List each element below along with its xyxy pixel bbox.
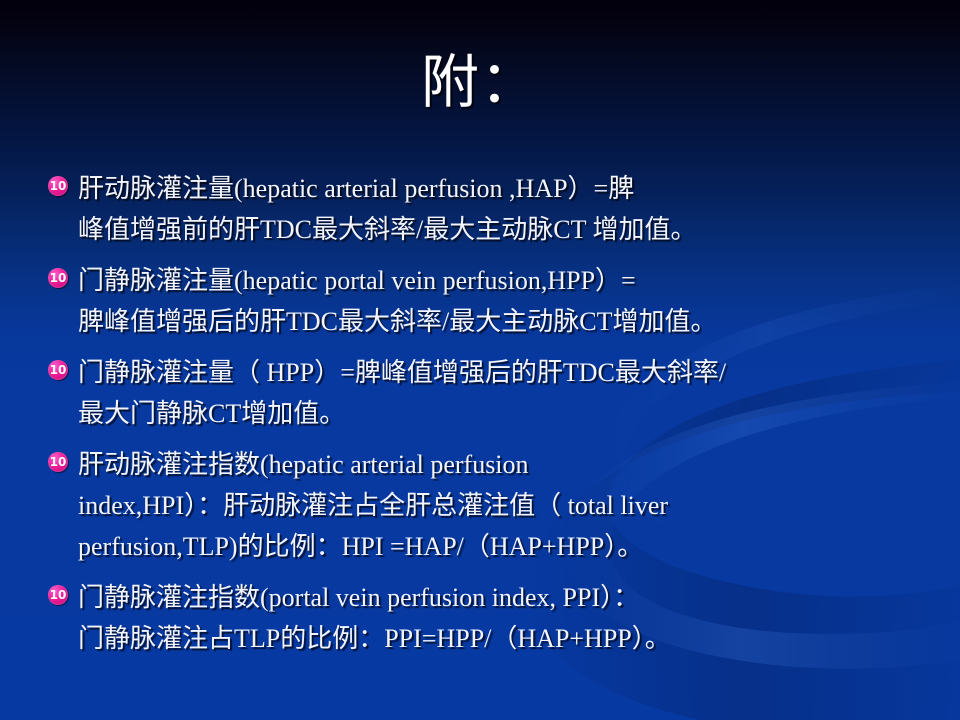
list-item-text: 肝动脉灌注量(hepatic arterial perfusion ,HAP）=… [78, 168, 920, 250]
circled-ten-bullet-icon: 10 [48, 585, 68, 605]
circled-ten-bullet-icon: 10 [48, 452, 68, 472]
slide-body: 10 肝动脉灌注量(hepatic arterial perfusion ,HA… [48, 168, 920, 669]
list-item: 10 门静脉灌注指数(portal vein perfusion index, … [48, 577, 920, 659]
list-item: 10 门静脉灌注量(hepatic portal vein perfusion,… [48, 260, 920, 342]
circled-ten-bullet-icon: 10 [48, 268, 68, 288]
circled-ten-bullet-icon: 10 [48, 176, 68, 196]
presentation-slide: 附： 10 肝动脉灌注量(hepatic arterial perfusion … [0, 0, 960, 720]
list-item-text: 门静脉灌注指数(portal vein perfusion index, PPI… [78, 577, 920, 659]
list-item: 10 门静脉灌注量（ HPP）=脾峰值增强后的肝TDC最大斜率/ 最大门静脉CT… [48, 352, 920, 434]
list-item-text: 肝动脉灌注指数(hepatic arterial perfusion index… [78, 444, 920, 567]
list-item-text: 门静脉灌注量（ HPP）=脾峰值增强后的肝TDC最大斜率/ 最大门静脉CT增加值… [78, 352, 920, 434]
circled-ten-bullet-icon: 10 [48, 360, 68, 380]
slide-title: 附： [0, 48, 960, 118]
list-item: 10 肝动脉灌注量(hepatic arterial perfusion ,HA… [48, 168, 920, 250]
list-item-text: 门静脉灌注量(hepatic portal vein perfusion,HPP… [78, 260, 920, 342]
list-item: 10 肝动脉灌注指数(hepatic arterial perfusion in… [48, 444, 920, 567]
